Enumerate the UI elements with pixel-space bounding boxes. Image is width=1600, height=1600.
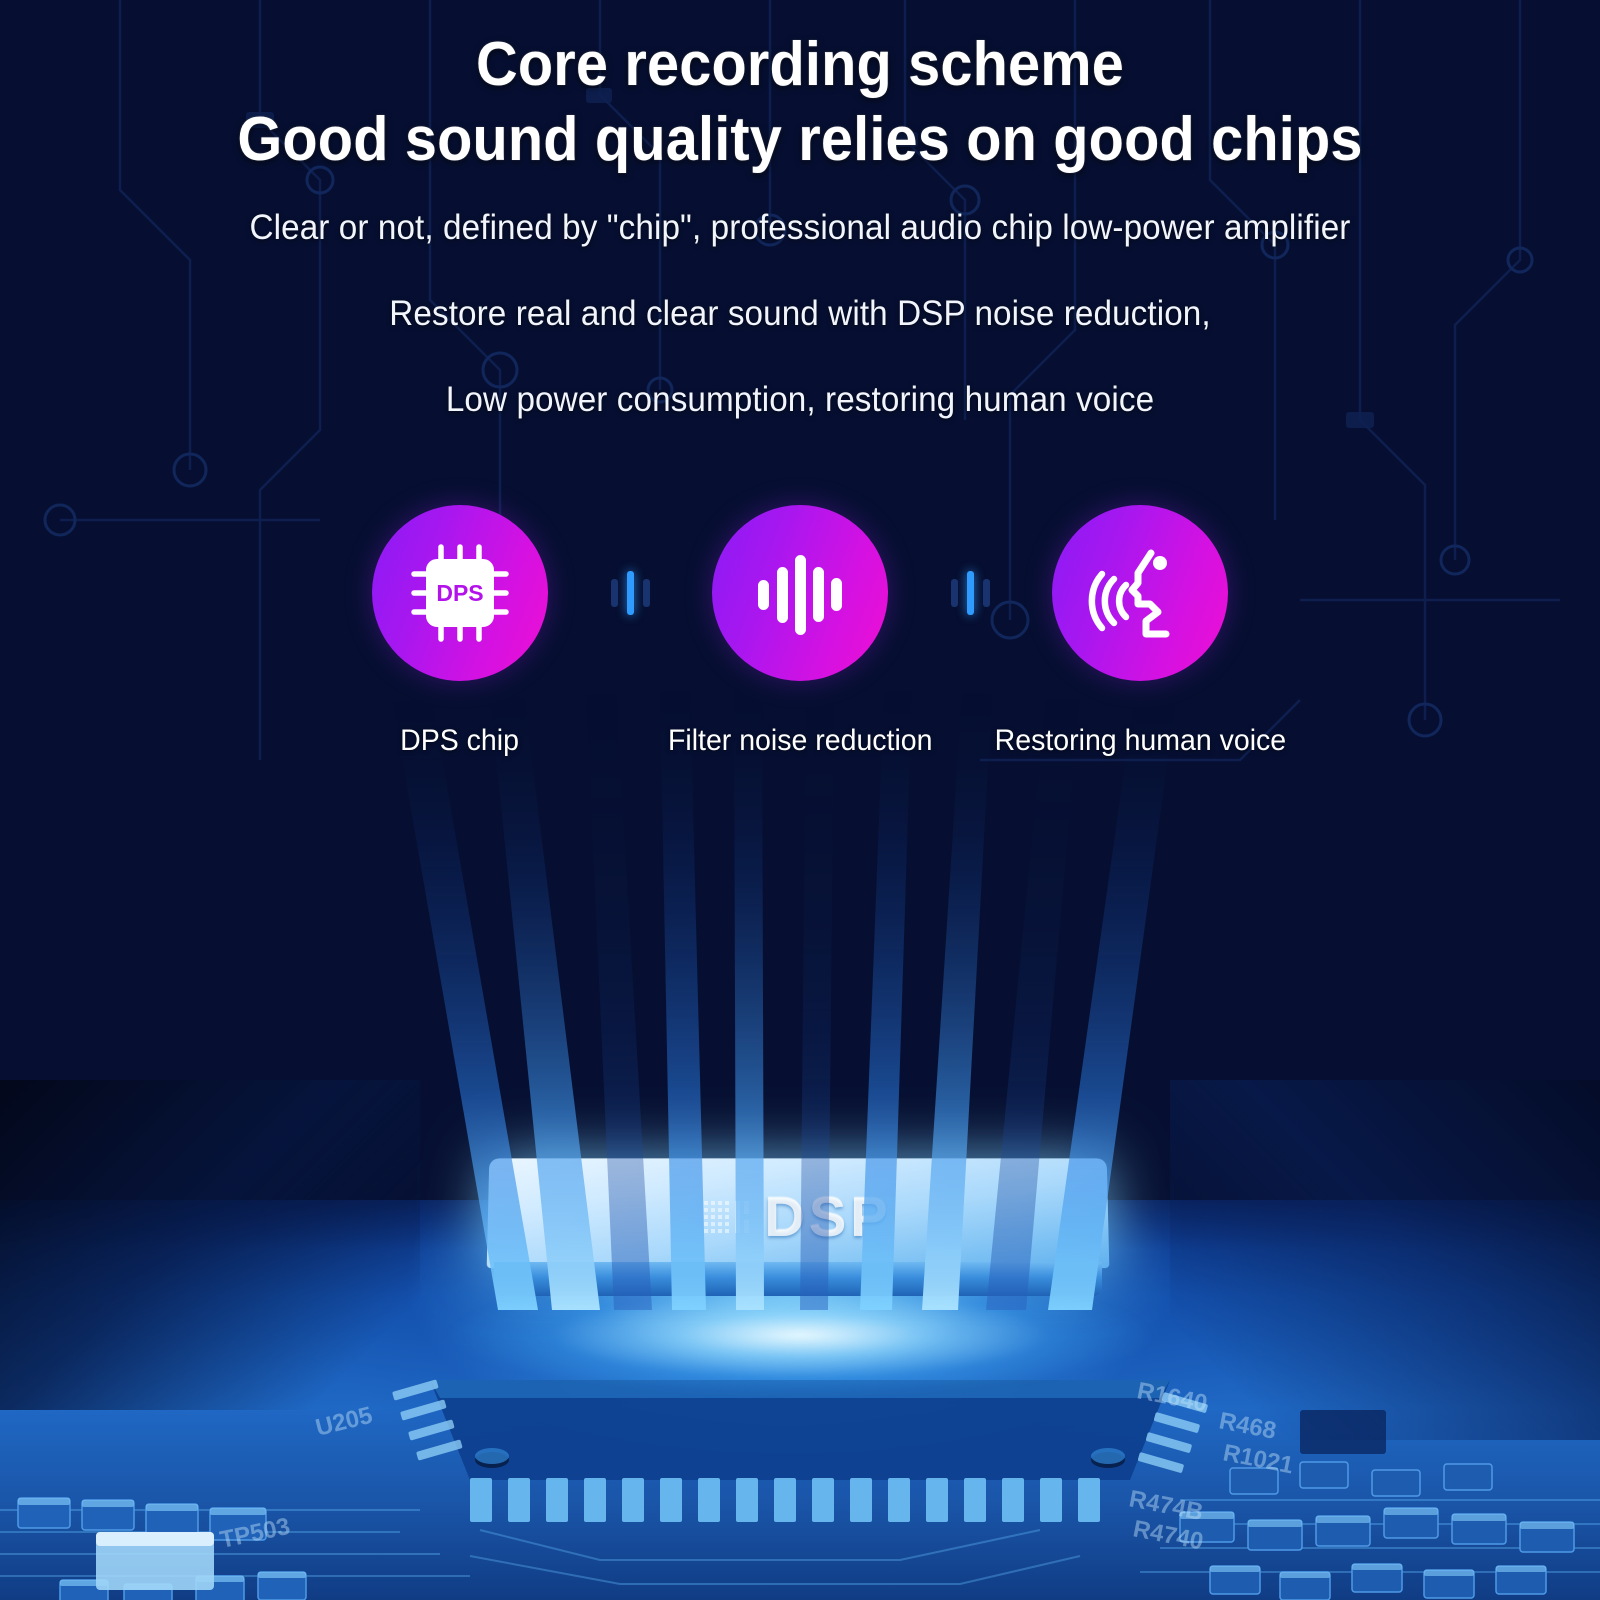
headline-block: Core recording scheme Good sound quality… (0, 28, 1600, 178)
signal-bars-divider-2 (923, 505, 1018, 681)
feature-item-restoring-human-voice[interactable]: Restoring human voice (1018, 505, 1263, 759)
product-photo-pcb-dsp-chip: U205 TP503 R468 R1021 R474B R4740 R1640 (0, 1080, 1600, 1600)
subheading-line-1: Clear or not, defined by "chip", profess… (40, 206, 1560, 250)
dsp-chip-logo: DSP (488, 1184, 1108, 1249)
dsp-chip-label: DSP (764, 1184, 891, 1249)
cpu-chip-icon-text: DPS (436, 580, 483, 606)
feature-icon-circle (1052, 505, 1228, 681)
divider-bar-dim-right (983, 579, 990, 607)
audio-waveform-icon (750, 543, 850, 643)
speaking-head-icon (1088, 541, 1192, 645)
feature-icon-circle (712, 505, 888, 681)
headline-line-1: Core recording scheme (56, 28, 1544, 102)
headline-line-2: Good sound quality relies on good chips (56, 102, 1544, 178)
feature-label: Filter noise reduction (668, 723, 933, 759)
feature-row: DPS DPS chip (0, 505, 1600, 759)
feature-icon-circle: DPS (372, 505, 548, 681)
dot-matrix-icon (704, 1199, 750, 1235)
dsp-chip-lid-edge (494, 1262, 1102, 1296)
divider-bar-bright (627, 571, 634, 615)
feature-label: DPS chip (401, 723, 520, 759)
cpu-chip-icon: DPS (408, 541, 512, 645)
subheading-block: Clear or not, defined by "chip", profess… (0, 206, 1600, 464)
divider-bar-dim-left (951, 579, 958, 607)
pcb-right-shadow (1170, 1080, 1600, 1440)
feature-label: Restoring human voice (994, 723, 1285, 759)
subheading-line-3: Low power consumption, restoring human v… (40, 378, 1560, 422)
subheading-line-2: Restore real and clear sound with DSP no… (40, 292, 1560, 336)
dsp-chip-lid: DSP (488, 1158, 1108, 1303)
signal-bars-divider-1 (583, 505, 678, 681)
divider-bar-dim-left (611, 579, 618, 607)
divider-bar-dim-right (643, 579, 650, 607)
pcb-left-shadow (0, 1080, 420, 1410)
feature-item-filter-noise-reduction[interactable]: Filter noise reduction (678, 505, 923, 759)
product-feature-banner: Core recording scheme Good sound quality… (0, 0, 1600, 1600)
divider-bar-bright (967, 571, 974, 615)
feature-item-dps-chip[interactable]: DPS DPS chip (338, 505, 583, 759)
